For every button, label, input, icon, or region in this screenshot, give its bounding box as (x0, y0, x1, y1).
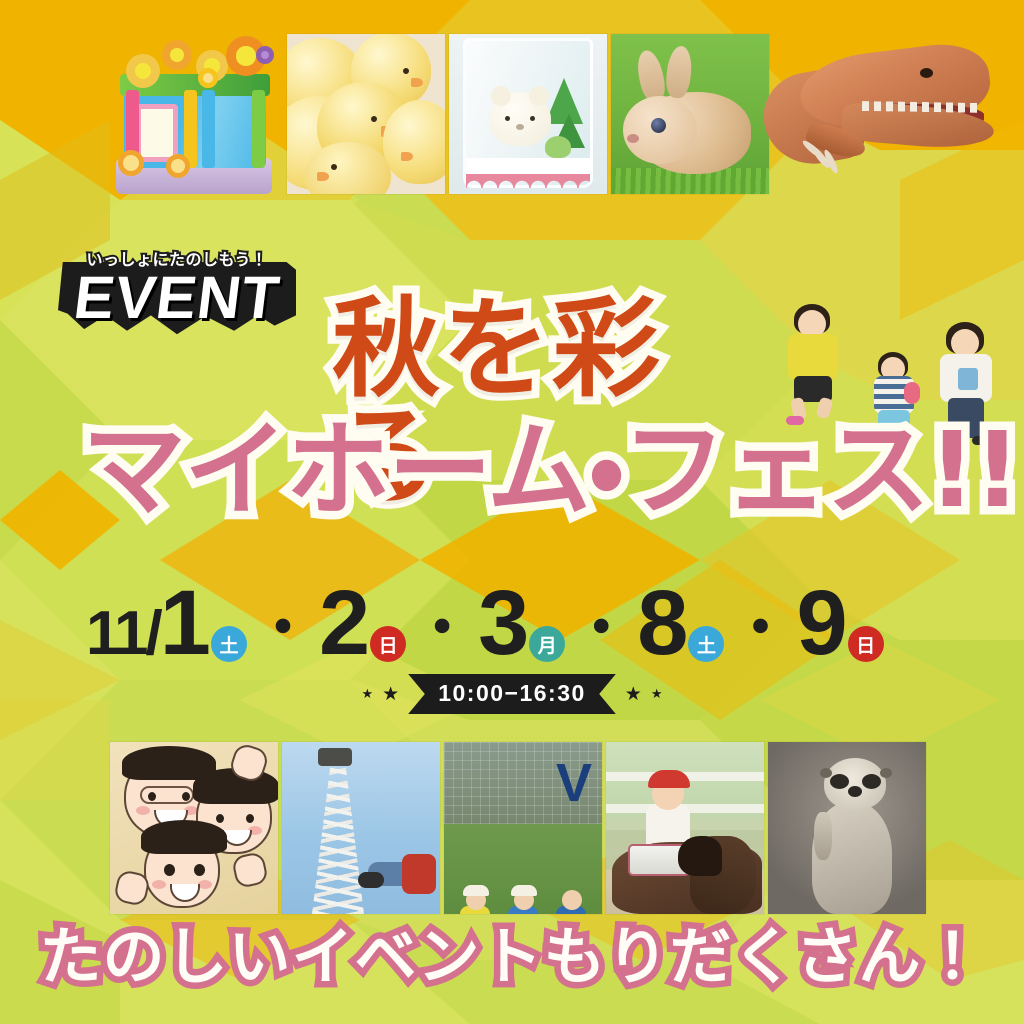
kid-cap (463, 885, 489, 896)
kid-cap (511, 885, 537, 896)
meerkat-arm (814, 812, 832, 860)
photo-climbing-tower (282, 742, 440, 914)
date-separator: ・ (247, 602, 319, 664)
photo-rabbit (611, 34, 769, 194)
rabbit-nose (627, 134, 639, 143)
date-item-4: 8 土 (637, 583, 724, 664)
bear-ear (529, 86, 549, 106)
caricature-cheek (136, 806, 150, 815)
caricature-hair (141, 820, 227, 854)
castle-flower-icon (126, 54, 160, 88)
riding-helmet (648, 770, 690, 788)
date-day: 3 (478, 583, 527, 664)
date-separator: ・ (565, 602, 637, 664)
bear-eye (505, 116, 510, 121)
chick-beak (411, 78, 423, 87)
time-row: ★ ★ 10:00−16:30 ★ ★ (0, 672, 1024, 716)
photo-t-rex-dinosaur (770, 28, 1000, 198)
running-kid (778, 306, 850, 416)
date-day: 1 (160, 583, 209, 664)
chick-eye (371, 116, 377, 122)
castle-entrance (136, 104, 178, 162)
bear-nose (516, 124, 524, 130)
castle-snail-icon (118, 150, 144, 176)
photo-pony-riding (606, 742, 764, 914)
bottom-tagline: たのしいイベントもりだくさん！ (0, 926, 1024, 988)
meerkat-ear (880, 768, 892, 778)
photo-meerkat (768, 742, 926, 914)
glasses-icon (140, 786, 194, 804)
tower-top (318, 748, 352, 766)
bear-figurine (489, 92, 551, 146)
date-item-5: 9 日 (796, 583, 883, 664)
castle-snail-icon (198, 68, 218, 88)
photo-family-caricature (110, 742, 278, 914)
kid-shirt-print (958, 368, 978, 390)
caricature-eye (216, 814, 224, 823)
date-day: 2 (319, 583, 368, 664)
event-badge: いっしょにたのしもう！ EVENT (58, 248, 296, 354)
chick-beak (317, 172, 329, 181)
date-day: 8 (637, 583, 686, 664)
trex-teeth (862, 101, 982, 113)
date-separator: ・ (406, 602, 478, 664)
star-icon: ★ (362, 688, 374, 701)
chick-eye (331, 164, 337, 170)
title-line-2: マイホーム・フェス!! (82, 418, 962, 522)
bear-eye (530, 116, 535, 121)
caricature-face-child-2 (144, 830, 220, 908)
kid-shirt (788, 334, 838, 380)
caricature-hand (231, 851, 269, 889)
star-icon: ★ (625, 685, 642, 704)
moss-figurine (545, 136, 571, 158)
meerkat-nose (848, 786, 862, 797)
caricature-cheek (152, 880, 166, 889)
pony-mane (678, 836, 722, 876)
photo-terrarium (449, 34, 607, 194)
weekday-badge: 土 (688, 626, 724, 662)
date-month: 11/ (86, 605, 160, 664)
date-row: 11/ 1 土 ・ 2 日 ・ 3 月 ・ 8 土 ・ 9 日 (86, 566, 966, 664)
date-item-1: 1 土 (160, 583, 247, 664)
weekday-badge: 日 (370, 626, 406, 662)
caricature-eye (164, 864, 175, 876)
star-icon: ★ (651, 688, 663, 701)
meerkat-ear (820, 768, 832, 778)
caricature-cheek (198, 880, 212, 889)
date-day: 9 (796, 583, 845, 664)
castle-snail-icon (256, 46, 274, 64)
jar-scallop-pink (466, 174, 590, 188)
weekday-badge: 月 (529, 626, 565, 662)
meerkat-eye (830, 774, 849, 789)
coach-head (562, 890, 582, 910)
weekday-badge: 土 (211, 626, 247, 662)
castle-column (202, 90, 215, 168)
banner-letter: V (556, 756, 592, 810)
castle-snail-icon (166, 154, 190, 178)
photo-baby-chicks (287, 34, 445, 194)
caricature-eye (194, 864, 205, 876)
photo-kids-sports: V (444, 742, 602, 914)
castle-flower-icon (162, 40, 192, 70)
kid-head (951, 329, 979, 357)
tower-structure (312, 754, 364, 914)
castle-column (252, 90, 265, 168)
climber-pack (402, 854, 436, 894)
rabbit-eye (651, 118, 666, 133)
chick-eye (403, 68, 409, 74)
event-poster: いっしょにたのしもう！ EVENT (0, 0, 1024, 1024)
bear-ear (491, 86, 511, 106)
chick-beak (401, 152, 413, 161)
photo-strip-bottom: V (110, 742, 910, 914)
date-item-2: 2 日 (319, 583, 406, 664)
weekday-badge: 日 (848, 626, 884, 662)
caricature-eye (246, 814, 254, 823)
climber-gear (358, 872, 384, 888)
time-ribbon: 10:00−16:30 (408, 674, 616, 714)
star-icon: ★ (382, 685, 399, 704)
date-item-3: 3 月 (478, 583, 565, 664)
rabbit-ear (664, 45, 693, 99)
photo-strip-top (110, 34, 910, 196)
caricature-smile (170, 884, 200, 902)
date-separator: ・ (724, 602, 796, 664)
meerkat-eye (862, 774, 881, 789)
kid-backpack (904, 382, 920, 404)
chick (383, 100, 445, 184)
trex-eye (920, 68, 933, 78)
photo-bouncy-castle (110, 32, 278, 200)
event-badge-label: EVENT (54, 268, 299, 328)
